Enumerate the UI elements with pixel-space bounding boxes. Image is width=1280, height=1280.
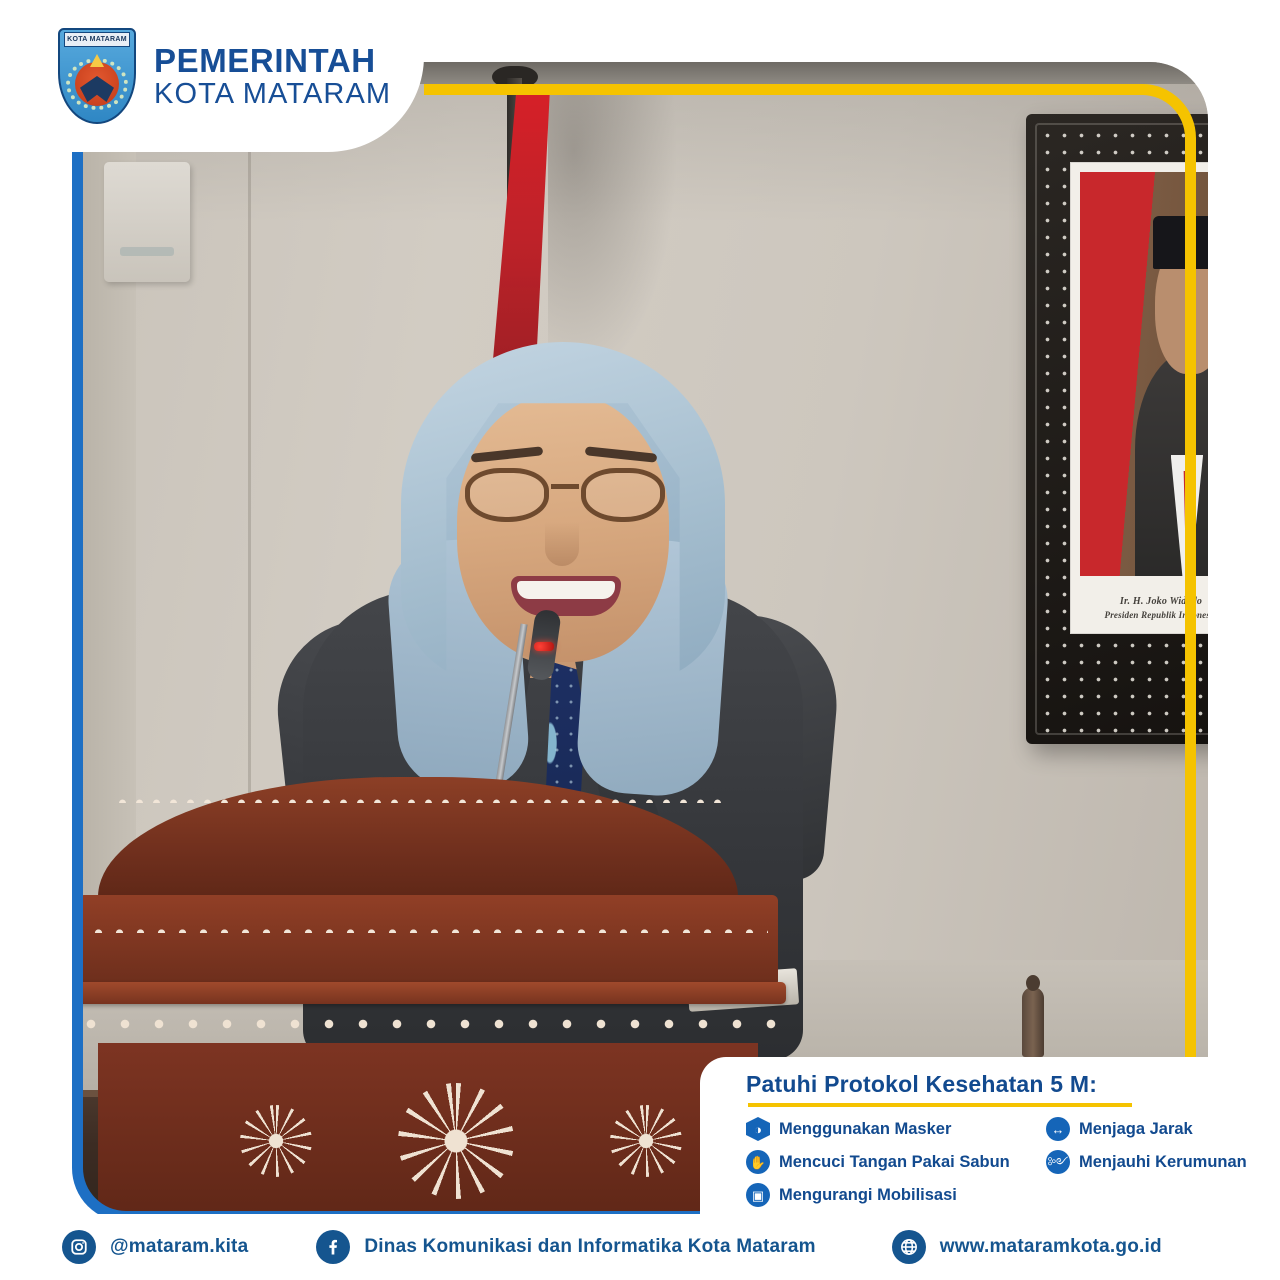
protocol-underline — [748, 1103, 1132, 1107]
no-crowd-icon: ༻ — [1046, 1150, 1070, 1174]
instagram-handle: @mataram.kita — [110, 1236, 248, 1258]
facebook-icon — [316, 1230, 350, 1264]
teeth — [517, 581, 615, 599]
podium-upper-band — [78, 895, 778, 987]
podium-rosette — [398, 1083, 514, 1199]
crest-flame-icon — [90, 54, 104, 67]
protocol-title: Patuhi Protokol Kesehatan 5 M: — [746, 1071, 1242, 1098]
city-crest-icon: KOTA MATARAM — [58, 28, 136, 124]
nose — [545, 522, 579, 566]
podium-front-panel — [98, 1043, 758, 1217]
protocol-item: ◑ Menggunakan Masker — [746, 1117, 1046, 1141]
podium-rail — [78, 982, 786, 1004]
header-line-2: KOTA MATARAM — [154, 80, 391, 109]
framed-portrait: Ir. H. Joko Widodo Presiden Republik Ind… — [1026, 114, 1208, 744]
portrait-peci-cap — [1153, 216, 1208, 269]
wall-fixture — [104, 162, 190, 282]
distance-icon: ↔ — [1046, 1117, 1070, 1141]
protocol-item-label: Menjaga Jarak — [1079, 1120, 1193, 1139]
mobility-icon: ▣ — [746, 1183, 770, 1207]
portrait-caption-name: Ir. H. Joko Widodo — [1070, 596, 1208, 607]
photo-background: Ir. H. Joko Widodo Presiden Republik Ind… — [78, 62, 1208, 1217]
website-url: www.mataramkota.go.id — [940, 1236, 1162, 1258]
protocol-item: ✋ Mencuci Tangan Pakai Sabun — [746, 1150, 1046, 1174]
carved-wooden-podium — [78, 777, 783, 1217]
footer-instagram[interactable]: @mataram.kita — [62, 1230, 248, 1264]
lens-left — [465, 468, 549, 522]
footer-facebook[interactable]: Dinas Komunikasi dan Informatika Kota Ma… — [316, 1230, 815, 1264]
lens-right — [581, 468, 665, 522]
microphone-indicator-light — [534, 642, 554, 651]
protocol-item: ▣ Mengurangi Mobilisasi — [746, 1183, 1046, 1207]
protocol-list: ◑ Menggunakan Masker ↔ Menjaga Jarak ✋ M… — [746, 1117, 1242, 1207]
protocol-item-label: Mengurangi Mobilisasi — [779, 1186, 957, 1205]
mask-icon: ◑ — [746, 1117, 770, 1141]
footer-website[interactable]: www.mataramkota.go.id — [892, 1230, 1162, 1264]
protocol-item-label: Mencuci Tangan Pakai Sabun — [779, 1153, 1010, 1172]
health-protocol-card: Patuhi Protokol Kesehatan 5 M: ◑ Menggun… — [700, 1057, 1260, 1217]
protocol-item: ༻ Menjauhi Kerumunan — [1046, 1150, 1280, 1174]
mouth — [511, 576, 621, 616]
podium-rosette — [240, 1105, 312, 1177]
poster-canvas: Ir. H. Joko Widodo Presiden Republik Ind… — [0, 0, 1280, 1280]
portrait-caption: Ir. H. Joko Widodo Presiden Republik Ind… — [1070, 596, 1208, 620]
crest-banner-label: KOTA MATARAM — [64, 32, 130, 47]
handwash-icon: ✋ — [746, 1150, 770, 1174]
header-line-1: PEMERINTAH — [154, 44, 391, 77]
globe-icon — [892, 1230, 926, 1264]
protocol-item: ↔ Menjaga Jarak — [1046, 1117, 1280, 1141]
president-portrait-image — [1080, 172, 1208, 576]
footer-bar: @mataram.kita Dinas Komunikasi dan Infor… — [0, 1214, 1280, 1280]
header-banner: KOTA MATARAM PEMERINTAH KOTA MATARAM — [0, 0, 424, 152]
podium-rosette — [610, 1105, 682, 1177]
protocol-item-label: Menggunakan Masker — [779, 1120, 951, 1139]
eyeglasses — [465, 468, 665, 524]
wooden-finial — [1022, 987, 1044, 1057]
facebook-page-name: Dinas Komunikasi dan Informatika Kota Ma… — [364, 1236, 815, 1258]
main-photo: Ir. H. Joko Widodo Presiden Republik Ind… — [78, 62, 1208, 1217]
instagram-icon — [62, 1230, 96, 1264]
glasses-bridge — [551, 484, 579, 489]
portrait-mat: Ir. H. Joko Widodo Presiden Republik Ind… — [1070, 162, 1208, 634]
portrait-caption-role: Presiden Republik Indonesia — [1070, 610, 1208, 620]
podium-crown — [98, 777, 738, 907]
podium-inlay-band — [78, 1002, 786, 1046]
header-text-block: PEMERINTAH KOTA MATARAM — [154, 44, 391, 109]
protocol-item-label: Menjauhi Kerumunan — [1079, 1153, 1247, 1172]
